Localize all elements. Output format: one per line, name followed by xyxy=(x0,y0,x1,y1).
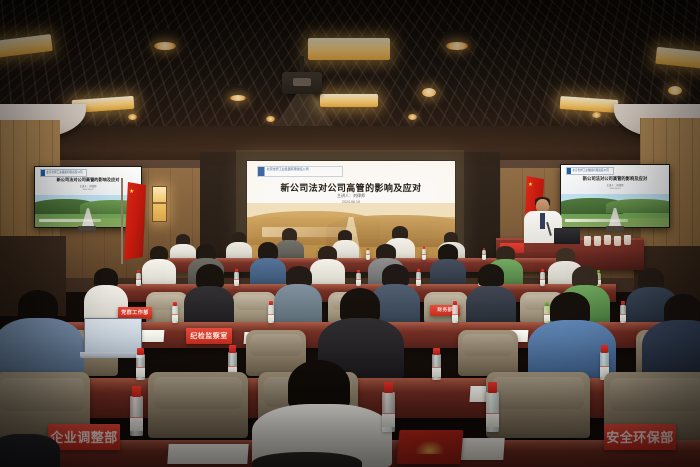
water-bottle xyxy=(540,272,545,286)
water-bottle xyxy=(268,305,274,323)
attendee-torso xyxy=(310,259,345,286)
ceiling-panel-light xyxy=(320,94,378,107)
wall-sconce-light xyxy=(152,186,167,222)
slide-photo xyxy=(35,195,141,227)
slide-title: 新公司法对公司高管的影响及应对 xyxy=(35,177,141,183)
attendee-silhouette xyxy=(0,434,60,467)
flag-star-icon: ★ xyxy=(528,183,533,188)
attendee-silhouette xyxy=(252,452,362,467)
company-logo: 北京世界工业集团有限责任公司 xyxy=(257,166,342,177)
attendee-hair xyxy=(150,246,168,260)
attendee-hair xyxy=(638,268,664,289)
water-bottle xyxy=(432,354,441,380)
company-logo-text: 北京世界工业集团有限责任公司 xyxy=(267,167,309,171)
desk-nameplate: 纪检监察室 xyxy=(186,328,232,344)
company-logo: 北京世界工业集团有限责任公司 xyxy=(40,169,87,177)
water-bottle xyxy=(382,392,395,432)
water-bottle xyxy=(234,272,239,286)
conference-chair xyxy=(146,292,188,324)
water-bottle xyxy=(416,272,421,286)
company-logo-text: 北京世界工业集团有限责任公司 xyxy=(572,168,611,172)
attendee-hair xyxy=(382,264,409,286)
conference-chair xyxy=(148,372,248,438)
company-logo: 北京世界工业集团有限责任公司 xyxy=(566,167,613,175)
ceiling-downlight-can xyxy=(444,30,470,50)
attendee-hair xyxy=(286,266,312,286)
slide-date: 2024.06.19 xyxy=(35,189,141,191)
slide-presenter: 主讲人：刘律师 xyxy=(561,183,669,187)
drinking-cup xyxy=(614,236,621,246)
paper-sheet xyxy=(167,444,248,464)
drinking-cup xyxy=(594,236,601,246)
recessed-light xyxy=(592,112,601,118)
conference-chair xyxy=(458,330,518,376)
conference-room-photo: 北京世界工业集团有限责任公司 新公司法对公司高管的影响及应对 主讲人：刘律师 2… xyxy=(0,0,700,467)
water-bottle xyxy=(130,396,143,436)
ceiling-panel-light xyxy=(308,38,390,60)
recessed-light xyxy=(128,114,137,120)
water-bottle xyxy=(172,306,178,323)
attendee-torso xyxy=(466,286,516,326)
attendee-hair xyxy=(496,246,515,260)
attendee-laptop-screen xyxy=(84,318,142,354)
drinking-cup xyxy=(604,235,611,245)
water-bottle xyxy=(366,250,370,260)
desk-nameplate-front-right: 安全环保部 xyxy=(604,424,676,450)
photo-caption-bar xyxy=(565,219,628,222)
recessed-light xyxy=(408,114,417,120)
monitor-stand xyxy=(78,226,96,231)
water-bottle xyxy=(422,249,426,260)
flag-star-icon: ★ xyxy=(129,190,134,195)
slide-date: 2024.06.19 xyxy=(561,188,669,190)
ceiling-downlight-can xyxy=(152,30,178,50)
left-display-monitor: 北京世界工业集团有限责任公司 新公司法对公司高管的影响及应对 主讲人：刘律师 2… xyxy=(34,166,142,228)
attendee-torso xyxy=(142,259,176,285)
conference-chair xyxy=(486,372,590,438)
attendee-torso xyxy=(430,259,466,286)
ceiling-projector xyxy=(282,72,322,94)
slide-header: 北京世界工业集团有限责任公司 新公司法对公司高管的影响及应对 主讲人：刘律师 2… xyxy=(35,167,141,195)
presentation-presenter: 主讲人：刘律师 xyxy=(247,193,455,199)
company-logo-text: 北京世界工业集团有限责任公司 xyxy=(46,170,85,174)
water-bottle xyxy=(136,354,145,380)
water-bottle xyxy=(452,305,458,323)
attendee-torso xyxy=(274,284,322,326)
drinking-cup xyxy=(584,236,591,246)
flag-pole-left xyxy=(121,178,123,264)
attendee-hair xyxy=(572,266,598,287)
attendee-hair xyxy=(318,246,337,260)
recessed-light xyxy=(266,116,275,122)
attendee-torso xyxy=(184,286,234,326)
water-bottle xyxy=(356,273,361,286)
drinking-cup xyxy=(624,235,631,245)
slide-title: 新公司法对公司高管的影响及应对 xyxy=(561,176,669,182)
speaker-tie xyxy=(540,213,545,229)
ceiling-downlight xyxy=(668,86,682,95)
attendee-torso xyxy=(250,258,286,286)
ceiling-downlight-can xyxy=(228,86,248,101)
slide-photo xyxy=(561,194,669,227)
attendee-torso xyxy=(642,320,700,380)
attendee-laptop-base xyxy=(80,352,144,358)
red-document-folder xyxy=(397,430,464,464)
attendee-hair xyxy=(556,248,575,262)
right-display-monitor: 北京世界工业集团有限责任公司 新公司法对公司高管的影响及应对 主讲人：刘律师 2… xyxy=(560,164,670,228)
water-bottle xyxy=(482,250,486,260)
slide-header: 北京世界工业集团有限责任公司 新公司法对公司高管的影响及应对 主讲人：刘律师 2… xyxy=(561,165,669,194)
attendee-hair xyxy=(340,288,380,322)
water-bottle xyxy=(620,305,626,323)
presentation-date: 2024.06.19 xyxy=(247,200,455,204)
water-bottle xyxy=(486,392,499,432)
water-bottle xyxy=(136,273,141,286)
attendee-torso xyxy=(0,318,84,380)
slide-presenter: 主讲人：刘律师 xyxy=(35,184,141,188)
speaker-laptop xyxy=(554,228,580,244)
ceiling-downlight xyxy=(422,88,436,97)
photo-caption-bar xyxy=(39,219,100,222)
attendee-hair xyxy=(376,244,396,259)
monitor-stand xyxy=(606,226,624,231)
